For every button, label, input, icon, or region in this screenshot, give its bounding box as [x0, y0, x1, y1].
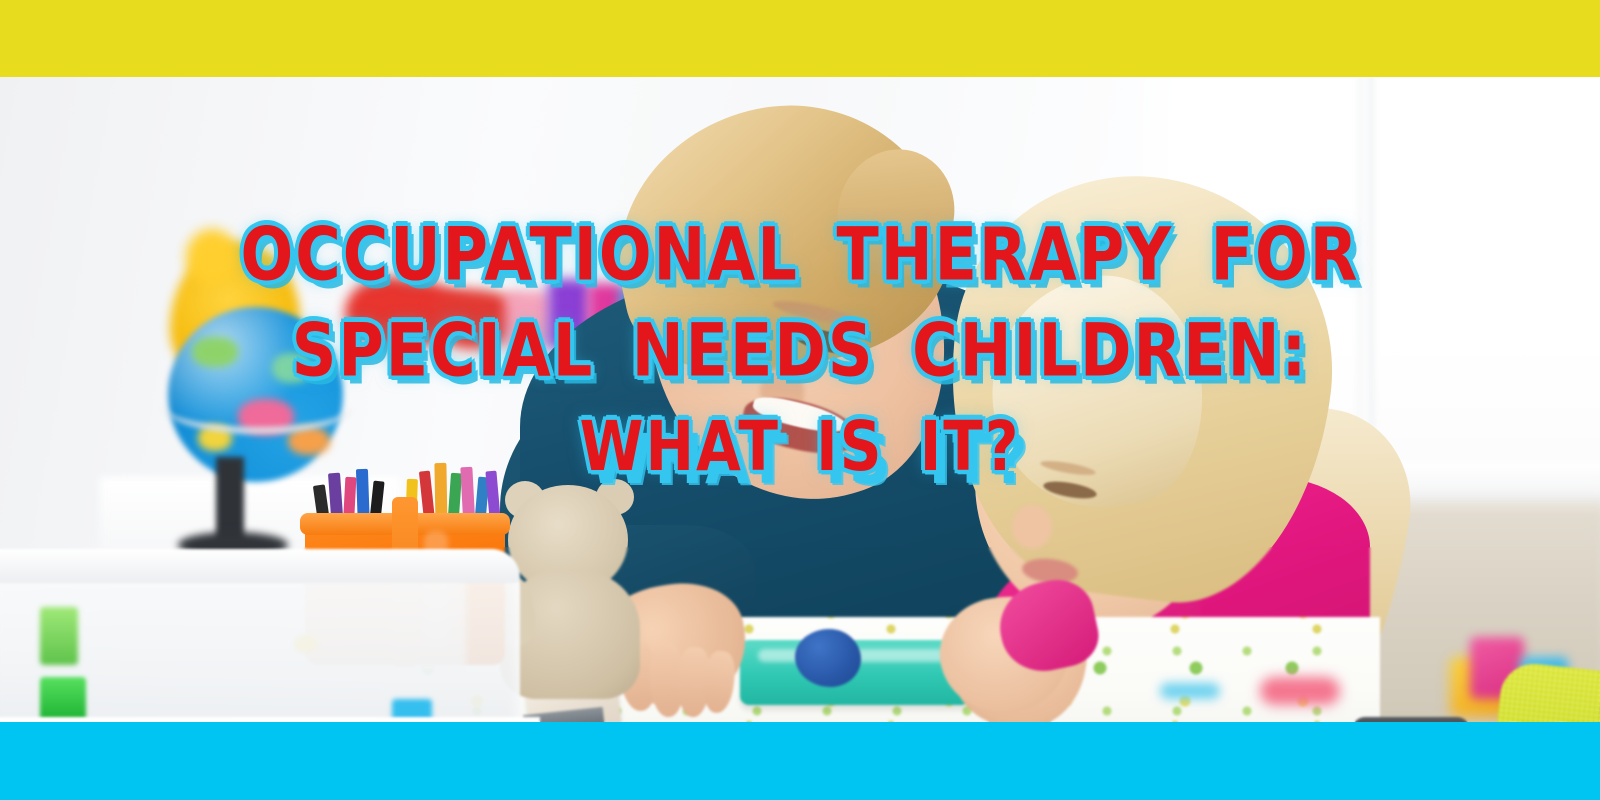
- title-line-3: WHAT IS IT?: [0, 412, 1600, 480]
- storage-bin-rim: [0, 549, 520, 583]
- sill-toy: [1260, 677, 1340, 705]
- title-line-2: SPECIAL NEEDS CHILDREN:: [0, 314, 1600, 387]
- sill-toy: [1160, 683, 1220, 699]
- page-title: OCCUPATIONAL THERAPY FOR SPECIAL NEEDS C…: [0, 218, 1600, 470]
- play-dough-ball: [795, 629, 861, 687]
- bottom-color-bar: [0, 722, 1600, 800]
- child-nose: [1012, 505, 1052, 549]
- green-block: [40, 607, 78, 665]
- banner: OCCUPATIONAL THERAPY FOR SPECIAL NEEDS C…: [0, 0, 1600, 800]
- green-block: [40, 677, 86, 721]
- title-line-1: OCCUPATIONAL THERAPY FOR: [0, 218, 1600, 291]
- top-color-bar: [0, 0, 1600, 77]
